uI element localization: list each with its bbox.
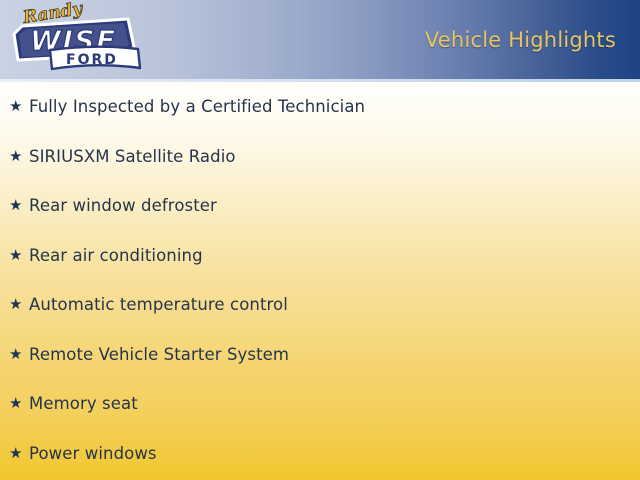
star-icon: ★ xyxy=(9,198,29,213)
list-item: ★ Fully Inspected by a Certified Technic… xyxy=(0,82,640,132)
list-item: ★ Automatic temperature control xyxy=(0,280,640,330)
star-icon: ★ xyxy=(9,396,29,411)
star-icon: ★ xyxy=(9,248,29,263)
list-item-label: Fully Inspected by a Certified Technicia… xyxy=(29,97,365,116)
list-item: ★ SIRIUSXM Satellite Radio xyxy=(0,132,640,182)
list-item: ★ Rear window defroster xyxy=(0,181,640,231)
list-item-label: Rear window defroster xyxy=(29,196,217,215)
list-item-label: Automatic temperature control xyxy=(29,295,288,314)
star-icon: ★ xyxy=(9,149,29,164)
list-item-label: Rear air conditioning xyxy=(29,246,203,265)
vehicle-highlights-page: WISE FORD Randy Vehicle Highlights ★ Ful… xyxy=(0,0,640,480)
star-icon: ★ xyxy=(9,297,29,312)
highlights-panel: ★ Fully Inspected by a Certified Technic… xyxy=(0,82,640,480)
randy-wise-ford-logo[interactable]: WISE FORD Randy xyxy=(8,2,144,78)
list-item: ★ Remote Vehicle Starter System xyxy=(0,330,640,380)
list-item: ★ Rear air conditioning xyxy=(0,231,640,281)
list-item: ★ Power windows xyxy=(0,429,640,479)
list-item: ★ Memory seat xyxy=(0,379,640,429)
star-icon: ★ xyxy=(9,446,29,461)
page-title: Vehicle Highlights xyxy=(425,28,616,52)
page-header: WISE FORD Randy Vehicle Highlights xyxy=(0,0,640,79)
star-icon: ★ xyxy=(9,347,29,362)
list-item-label: Memory seat xyxy=(29,394,138,413)
star-icon: ★ xyxy=(9,99,29,114)
list-item-label: Power windows xyxy=(29,444,157,463)
vehicle-highlights-list: ★ Fully Inspected by a Certified Technic… xyxy=(0,82,640,478)
list-item-label: Remote Vehicle Starter System xyxy=(29,345,289,364)
svg-text:FORD: FORD xyxy=(66,52,118,68)
list-item-label: SIRIUSXM Satellite Radio xyxy=(29,147,236,166)
